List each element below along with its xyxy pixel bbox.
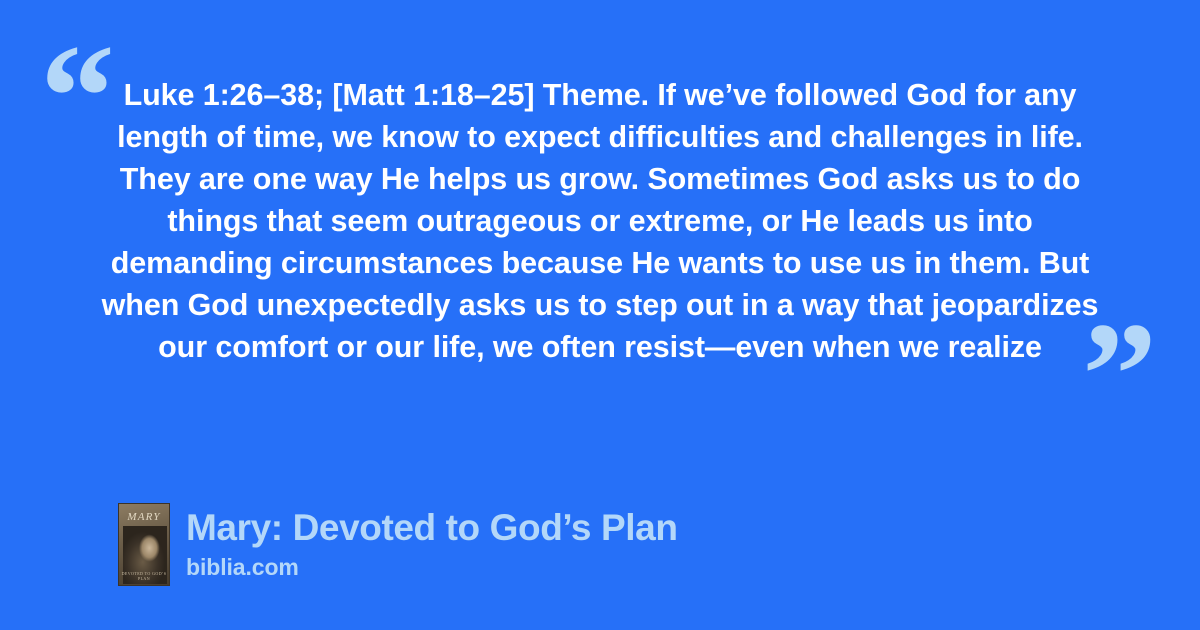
source-footer: MARY DEVOTED TO GOD’S PLAN Mary: Devoted… — [118, 503, 678, 586]
footer-text-block: Mary: Devoted to God’s Plan biblia.com — [186, 503, 678, 582]
book-cover-thumbnail-icon: MARY DEVOTED TO GOD’S PLAN — [118, 503, 170, 586]
site-name: biblia.com — [186, 552, 678, 582]
book-cover-title-text: MARY — [119, 511, 169, 523]
book-title: Mary: Devoted to God’s Plan — [186, 506, 678, 549]
book-cover-byline-text: DEVOTED TO GOD’S PLAN — [119, 571, 169, 581]
quote-text: Luke 1:26–38; [Matt 1:18–25] Theme. If w… — [96, 74, 1104, 368]
quote-card: “ Luke 1:26–38; [Matt 1:18–25] Theme. If… — [0, 0, 1200, 630]
close-quote-icon: ” — [1082, 300, 1153, 450]
